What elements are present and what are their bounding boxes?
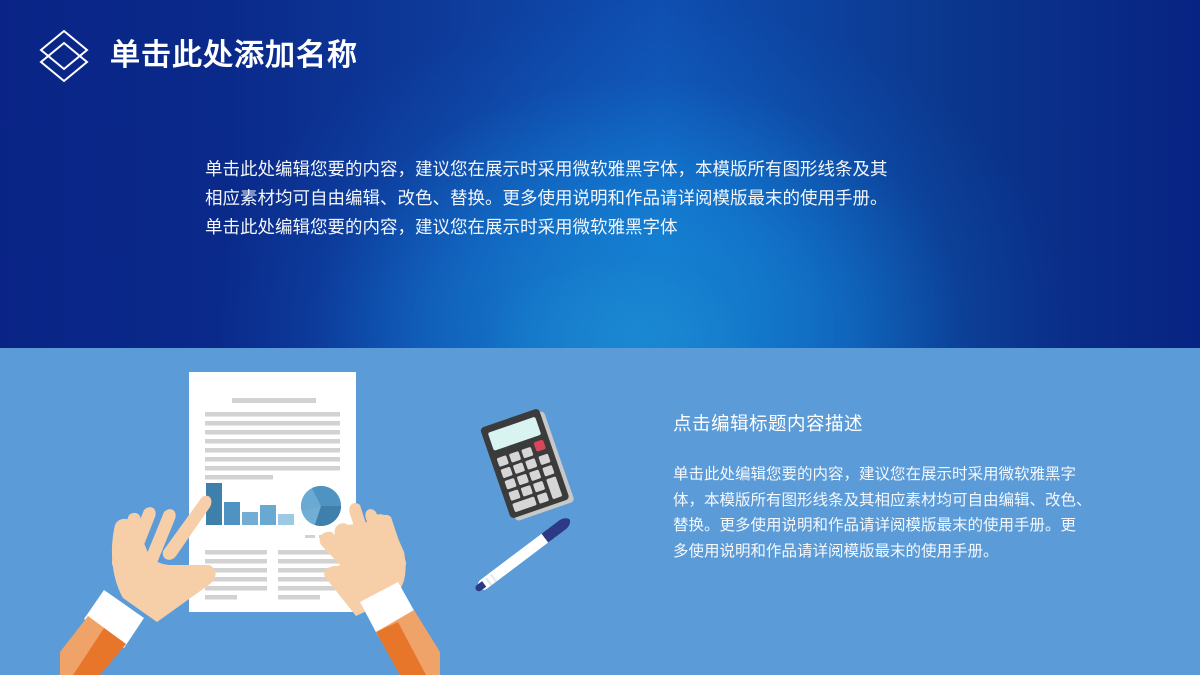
- desk-items-group: [455, 405, 615, 595]
- left-hand: [60, 496, 216, 675]
- calculator: [480, 407, 575, 523]
- top-body-paragraph: 单击此处编辑您要的内容，建议您在展示时采用微软雅黑字体，本模版所有图形线条及其 …: [205, 155, 1005, 242]
- right-text-block: 点击编辑标题内容描述 单击此处编辑您要的内容，建议您在展示时采用微软雅黑字 体，…: [673, 412, 1123, 564]
- bar-3: [242, 512, 258, 525]
- right-hand: [320, 503, 440, 675]
- bar-2: [224, 502, 240, 525]
- right-text-line: 替换。更多使用说明和作品请详阅模版最末的使用手册。更: [673, 513, 1123, 539]
- hands-holding-report-illustration: [60, 360, 440, 675]
- top-body-line: 相应素材均可自由编辑、改色、替换。更多使用说明和作品请详阅模版最末的使用手册。: [205, 184, 1005, 213]
- document-title-bar: [232, 398, 316, 403]
- right-text-heading: 点击编辑标题内容描述: [673, 412, 1123, 438]
- right-text-line: 多使用说明和作品请详阅模版最末的使用手册。: [673, 539, 1123, 565]
- right-text-line: 单击此处编辑您要的内容，建议您在展示时采用微软雅黑字: [673, 462, 1123, 488]
- bar-4: [260, 505, 276, 525]
- right-text-body: 单击此处编辑您要的内容，建议您在展示时采用微软雅黑字 体，本模版所有图形线条及其…: [673, 462, 1123, 564]
- top-body-line: 单击此处编辑您要的内容，建议您在展示时采用微软雅黑字体: [205, 213, 1005, 242]
- page-title: 单击此处添加名称: [110, 41, 358, 71]
- pie-chart: [301, 486, 341, 526]
- top-body-line: 单击此处编辑您要的内容，建议您在展示时采用微软雅黑字体，本模版所有图形线条及其: [205, 155, 1005, 184]
- slide-root: 单击此处添加名称 单击此处编辑您要的内容，建议您在展示时采用微软雅黑字体，本模版…: [0, 0, 1200, 675]
- right-text-line: 体，本模版所有图形线条及其相应素材均可自由编辑、改色、: [673, 488, 1123, 514]
- bar-5: [278, 514, 294, 525]
- slide-title-row: 单击此处添加名称: [36, 25, 358, 87]
- pen: [473, 515, 573, 594]
- double-diamond-icon: [36, 25, 92, 87]
